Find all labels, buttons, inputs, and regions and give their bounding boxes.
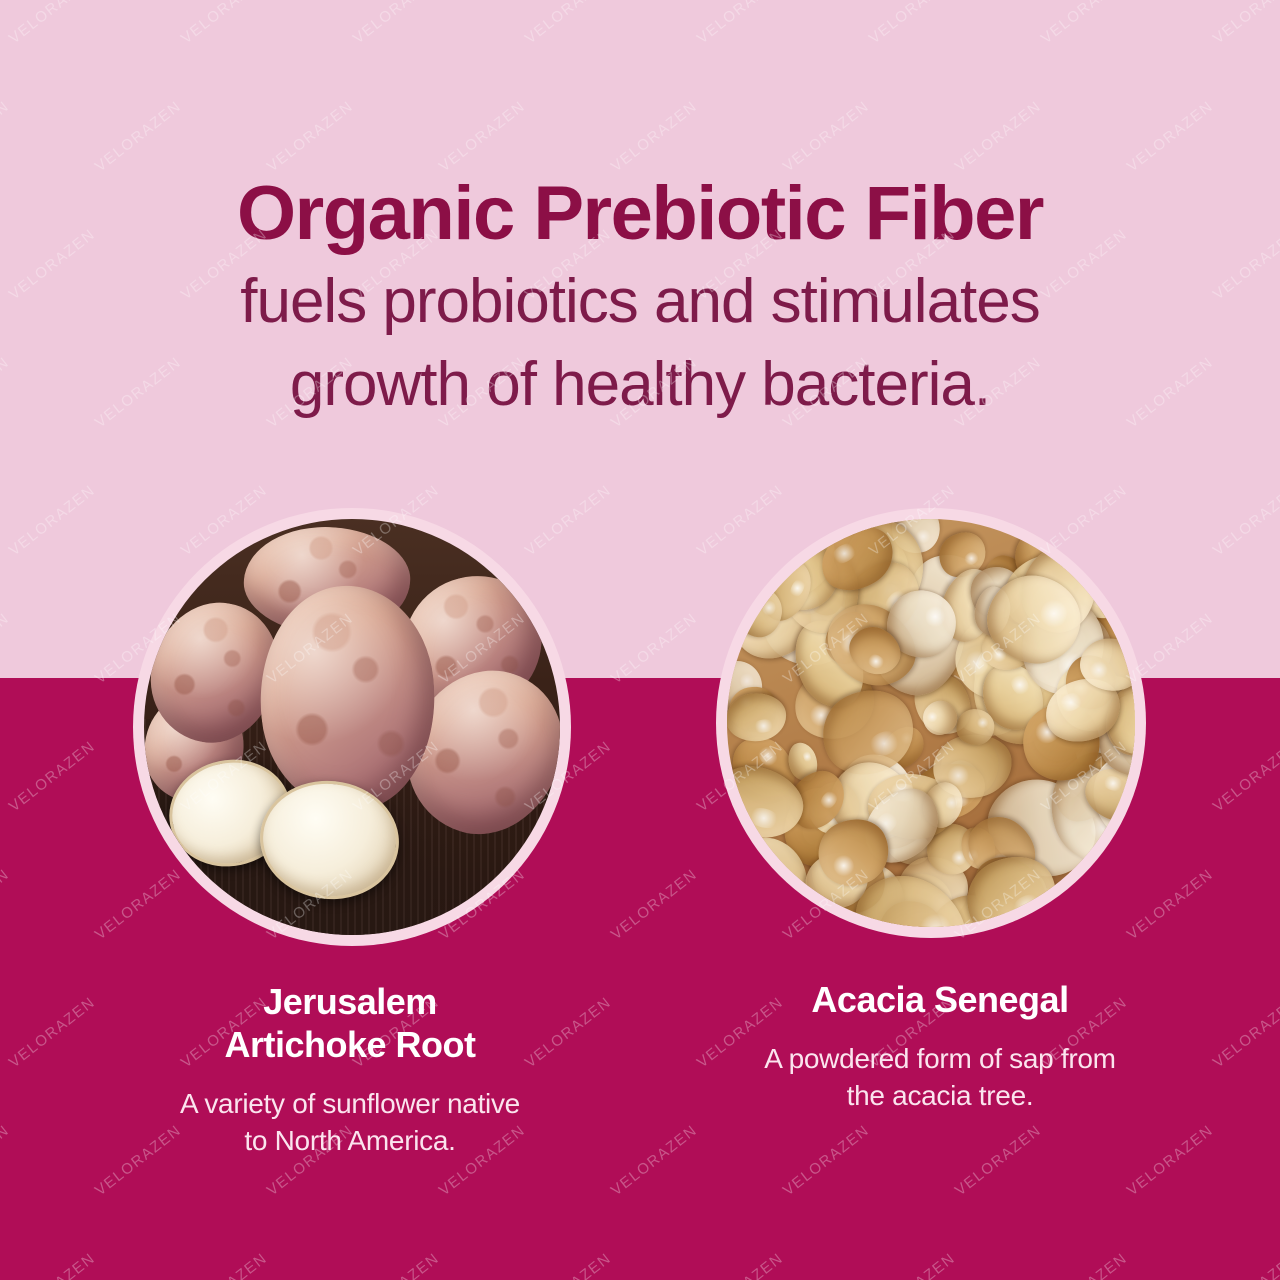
ingredient-description-line1: A variety of sunflower native: [100, 1086, 600, 1122]
acacia-gum-scene: [727, 519, 1135, 927]
page-subtitle-line1: fuels probiotics and stimulates: [0, 267, 1280, 336]
page-title: Organic Prebiotic Fiber: [0, 175, 1280, 253]
ingredient-image-jerusalem-artichoke-root: [133, 508, 571, 946]
ingredient-caption-jerusalem-artichoke-root: Jerusalem Artichoke Root A variety of su…: [100, 980, 600, 1159]
ingredient-title-line1: Acacia Senegal: [690, 978, 1190, 1021]
prebiotic-fiber-infographic: Organic Prebiotic Fiber fuels probiotics…: [0, 0, 1280, 1280]
acacia-gum-photo: [727, 519, 1135, 927]
ingredient-description-line2: to North America.: [100, 1123, 600, 1159]
page-subtitle-line2: growth of healthy bacteria.: [0, 350, 1280, 419]
ingredient-caption-acacia-senegal: Acacia Senegal A powdered form of sap fr…: [690, 978, 1190, 1114]
ingredient-image-acacia-senegal: [716, 508, 1146, 938]
jerusalem-artichoke-photo: [144, 519, 560, 935]
ingredient-title-line2: Artichoke Root: [100, 1023, 600, 1066]
ingredient-description-line1: A powdered form of sap from: [690, 1041, 1190, 1077]
headline-block: Organic Prebiotic Fiber fuels probiotics…: [0, 175, 1280, 419]
artichoke-scene: [144, 519, 560, 935]
ingredient-description-line2: the acacia tree.: [690, 1078, 1190, 1114]
ingredient-title-line1: Jerusalem: [100, 980, 600, 1023]
